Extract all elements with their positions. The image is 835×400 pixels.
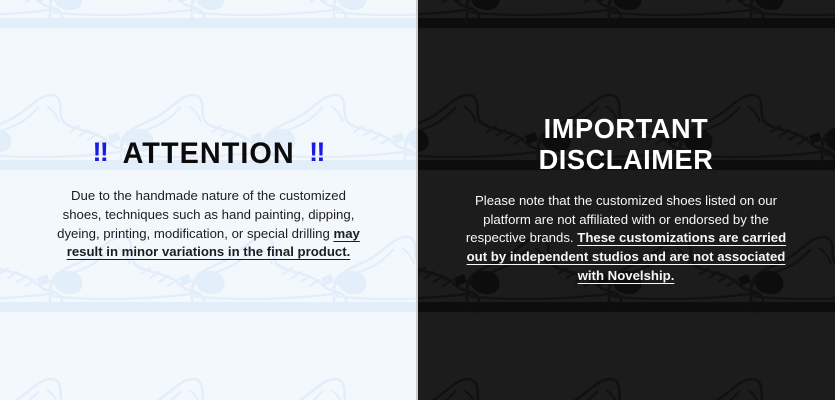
attention-panel: ‼ ATTENTION ‼ Due to the handmade nature… xyxy=(0,0,417,400)
disclaimer-banner: ‼ ATTENTION ‼ Due to the handmade nature… xyxy=(0,0,835,400)
disclaimer-heading-line2: DISCLAIMER xyxy=(423,145,828,175)
disclaimer-heading: IMPORTANT DISCLAIMER xyxy=(417,114,835,174)
panel-divider xyxy=(416,0,418,400)
double-exclamation-left-icon: ‼ xyxy=(93,138,108,166)
attention-body: Due to the handmade nature of the custom… xyxy=(0,187,417,262)
double-exclamation-right-icon: ‼ xyxy=(309,138,324,166)
attention-heading-text: ATTENTION xyxy=(122,138,294,169)
attention-heading: ‼ ATTENTION ‼ xyxy=(0,138,417,169)
disclaimer-body: Please note that the customized shoes li… xyxy=(417,192,835,286)
disclaimer-panel: IMPORTANT DISCLAIMER Please note that th… xyxy=(417,0,835,400)
disclaimer-heading-line1: IMPORTANT xyxy=(423,114,828,144)
disclaimer-content: IMPORTANT DISCLAIMER Please note that th… xyxy=(417,114,835,285)
attention-body-plain: Due to the handmade nature of the custom… xyxy=(57,188,354,240)
attention-content: ‼ ATTENTION ‼ Due to the handmade nature… xyxy=(0,138,417,262)
